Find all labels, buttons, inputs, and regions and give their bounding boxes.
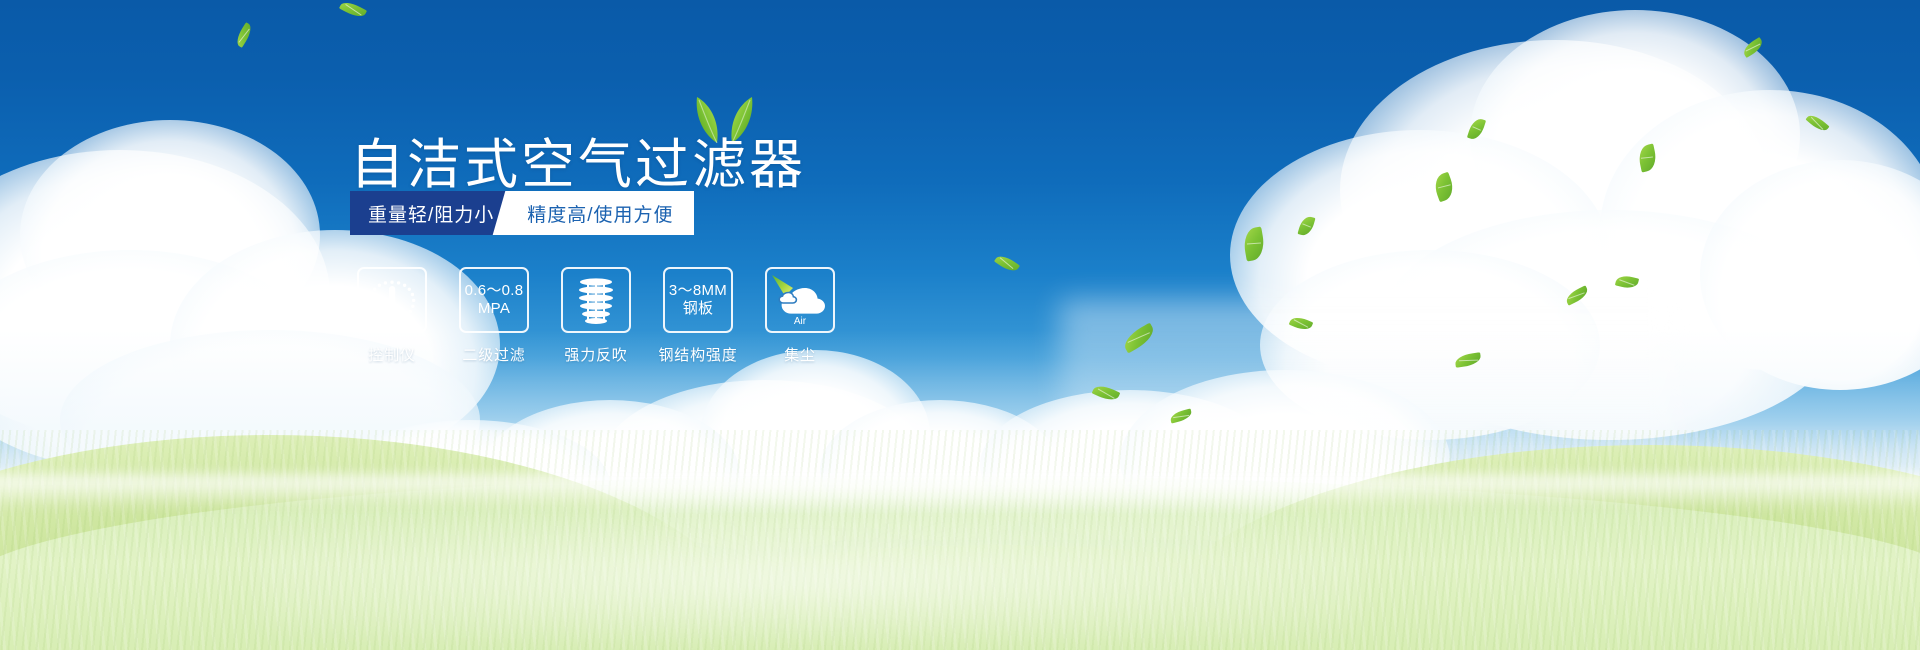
feature-label: 二级过滤 <box>462 344 525 365</box>
feature-item-pressure[interactable]: 0.6～0.8 MPA 二级过滤 <box>458 267 530 365</box>
floating-leaf-icon <box>1615 274 1639 291</box>
feature-icon-frame: Air <box>765 267 835 333</box>
floating-leaf-icon <box>1120 323 1157 354</box>
pressure-value-icon: 0.6～0.8 MPA <box>465 282 524 318</box>
steel-material: 钢板 <box>669 300 727 318</box>
feature-label: 钢结构强度 <box>659 344 738 365</box>
air-label: Air <box>794 316 807 326</box>
floating-leaf-icon <box>1431 172 1457 203</box>
cloud-shape <box>1700 160 1920 390</box>
gauge-dial-icon: NO OFF <box>364 275 420 325</box>
cloud-shape <box>1120 370 1450 550</box>
feature-label: 强力反吹 <box>564 344 627 365</box>
cloud-shape <box>1470 10 1800 260</box>
tagline-primary-text: 重量轻/阻力小 <box>368 200 494 227</box>
feature-label: 控制仪 <box>368 344 415 365</box>
floating-leaf-icon <box>1241 227 1266 262</box>
cloud-shape <box>0 250 320 470</box>
feature-item-backblow[interactable]: 强力反吹 <box>560 267 632 365</box>
tagline-group: 重量轻/阻力小 精度高/使用方便 <box>350 191 694 235</box>
cloud-shape <box>1230 130 1610 380</box>
floating-leaf-icon <box>1636 144 1658 173</box>
filter-cartridge-icon <box>573 275 619 325</box>
cloud-shape <box>20 120 320 350</box>
tagline-badge-primary: 重量轻/阻力小 <box>350 191 515 235</box>
steel-plate-icon: 3～8MM 钢板 <box>669 282 727 318</box>
right-hill <box>1140 445 1920 650</box>
steel-thickness: 3～8MM <box>669 282 727 300</box>
floating-leaf-icon <box>1297 215 1315 238</box>
feature-icon-frame <box>561 267 631 333</box>
feature-item-steel[interactable]: 3～8MM 钢板 钢结构强度 <box>662 267 734 365</box>
floating-leaf-icon <box>1467 117 1486 142</box>
feature-item-controller[interactable]: NO OFF 控制仪 <box>356 267 428 365</box>
floating-leaf-icon <box>1432 477 1448 490</box>
floating-leaf-icon <box>1805 112 1829 134</box>
feature-icon-frame: 0.6～0.8 MPA <box>459 267 529 333</box>
cloud-shape <box>0 150 330 440</box>
cloud-shape <box>1260 250 1600 440</box>
cloud-veil <box>1060 300 1680 550</box>
cloud-shape <box>1380 210 1840 440</box>
floating-leaf-icon <box>1289 314 1314 332</box>
cloud-shape <box>1600 90 1920 370</box>
hero-banner: 自洁式空气过滤器 重量轻/阻力小 精度高/使用方便 <box>0 0 1920 650</box>
floating-leaf-icon <box>1741 37 1765 58</box>
page-title: 自洁式空气过滤器 <box>350 120 806 199</box>
pressure-range: 0.6～0.8 <box>465 282 524 300</box>
feature-icon-row: NO OFF 控制仪 0.6～0.8 MPA 二级过滤 <box>356 267 836 365</box>
feature-icon-frame: 3～8MM 钢板 <box>663 267 733 333</box>
dial-mark-left: NO <box>366 299 376 306</box>
tagline-secondary-text: 精度高/使用方便 <box>527 200 673 227</box>
tagline-badge-secondary: 精度高/使用方便 <box>515 191 693 235</box>
floating-leaf-icon <box>233 22 254 48</box>
floating-leaf-icon <box>1169 408 1193 423</box>
cloud-shape <box>1340 40 1770 340</box>
floating-leaf-icon <box>1092 382 1121 404</box>
dial-mark-right: OFF <box>400 316 413 323</box>
banner-content: 自洁式空气过滤器 重量轻/阻力小 精度高/使用方便 <box>350 0 1070 650</box>
air-cloud-icon: Air <box>771 274 829 326</box>
floating-leaf-icon <box>1564 285 1590 305</box>
pressure-unit: MPA <box>465 300 524 318</box>
feature-icon-frame: NO OFF <box>357 267 427 333</box>
floating-leaf-icon <box>1454 352 1481 368</box>
feature-label: 集尘 <box>784 344 816 365</box>
feature-item-dust[interactable]: Air 集尘 <box>764 267 836 365</box>
